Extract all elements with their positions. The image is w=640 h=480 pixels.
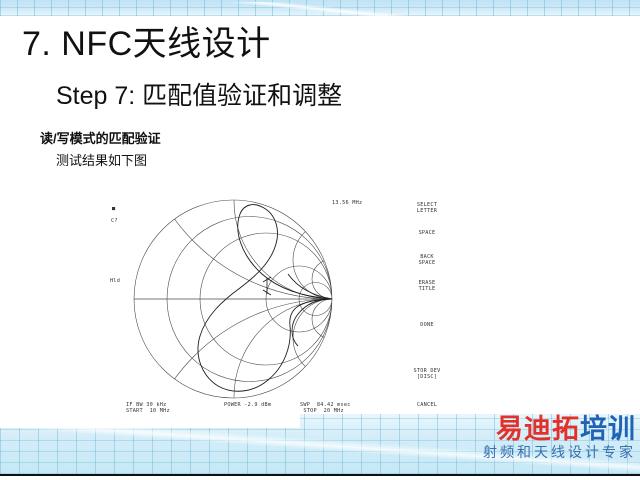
softkey-done[interactable]: DONE bbox=[400, 322, 454, 328]
smith-chart bbox=[130, 196, 392, 402]
section-heading: 读/写模式的匹配验证 bbox=[40, 128, 161, 147]
status-if-bw-start: IF BW 30 kHz START 10 MHz bbox=[126, 402, 170, 414]
bottom-margin bbox=[0, 476, 640, 480]
softkey-back-space[interactable]: BACK SPACE bbox=[400, 254, 454, 266]
softkey-erase-title[interactable]: ERASE TITLE bbox=[400, 280, 454, 292]
section-subheading: 测试结果如下图 bbox=[56, 150, 147, 169]
top-decorative-band bbox=[0, 0, 640, 16]
top-band-sweep bbox=[0, 2, 640, 16]
slide-subtitle: Step 7: 匹配值验证和调整 bbox=[56, 76, 342, 112]
status-sweep-time: SWP 84.42 msec bbox=[300, 402, 351, 408]
status-sweep-stop: SWP 84.42 msec STOP 20 MHz bbox=[300, 402, 351, 414]
brand-name: 易迪拓培训 bbox=[476, 416, 636, 443]
status-power: POWER -2.9 dBm bbox=[224, 402, 271, 408]
status-if-bw: IF BW 30 kHz bbox=[126, 402, 166, 408]
hold-indicator: Hld bbox=[110, 278, 120, 284]
softkey-cancel[interactable]: CANCEL bbox=[400, 402, 454, 408]
page-title: 7. NFC天线设计 bbox=[22, 16, 271, 65]
slide-canvas: 7. NFC天线设计 Step 7: 匹配值验证和调整 读/写模式的匹配验证 测… bbox=[0, 0, 640, 480]
softkey-space[interactable]: SPACE bbox=[400, 230, 454, 236]
brand-tagline: 射频和天线设计专家 bbox=[476, 446, 636, 460]
brand-name-red: 易迪拓 bbox=[496, 414, 580, 445]
vna-screen-capture: ■ C? Hld 13.56 MHz bbox=[104, 188, 454, 426]
status-start-freq: START 10 MHz bbox=[126, 408, 170, 414]
channel-label: C? bbox=[111, 218, 118, 224]
top-band-grid bbox=[0, 0, 640, 16]
marker-symbol-icon: ■ bbox=[112, 206, 115, 212]
softkey-menu[interactable]: SELECT LETTER SPACE BACK SPACE ERASE TIT… bbox=[400, 196, 454, 414]
brand-name-blue: 培训 bbox=[580, 414, 636, 445]
status-stop-freq: STOP 20 MHz bbox=[303, 408, 343, 414]
softkey-select-letter[interactable]: SELECT LETTER bbox=[400, 202, 454, 214]
brand-logo: 易迪拓培训 射频和天线设计专家 bbox=[476, 416, 636, 470]
softkey-stor-dev-disc[interactable]: STOR DEV [DISC] bbox=[400, 368, 454, 380]
